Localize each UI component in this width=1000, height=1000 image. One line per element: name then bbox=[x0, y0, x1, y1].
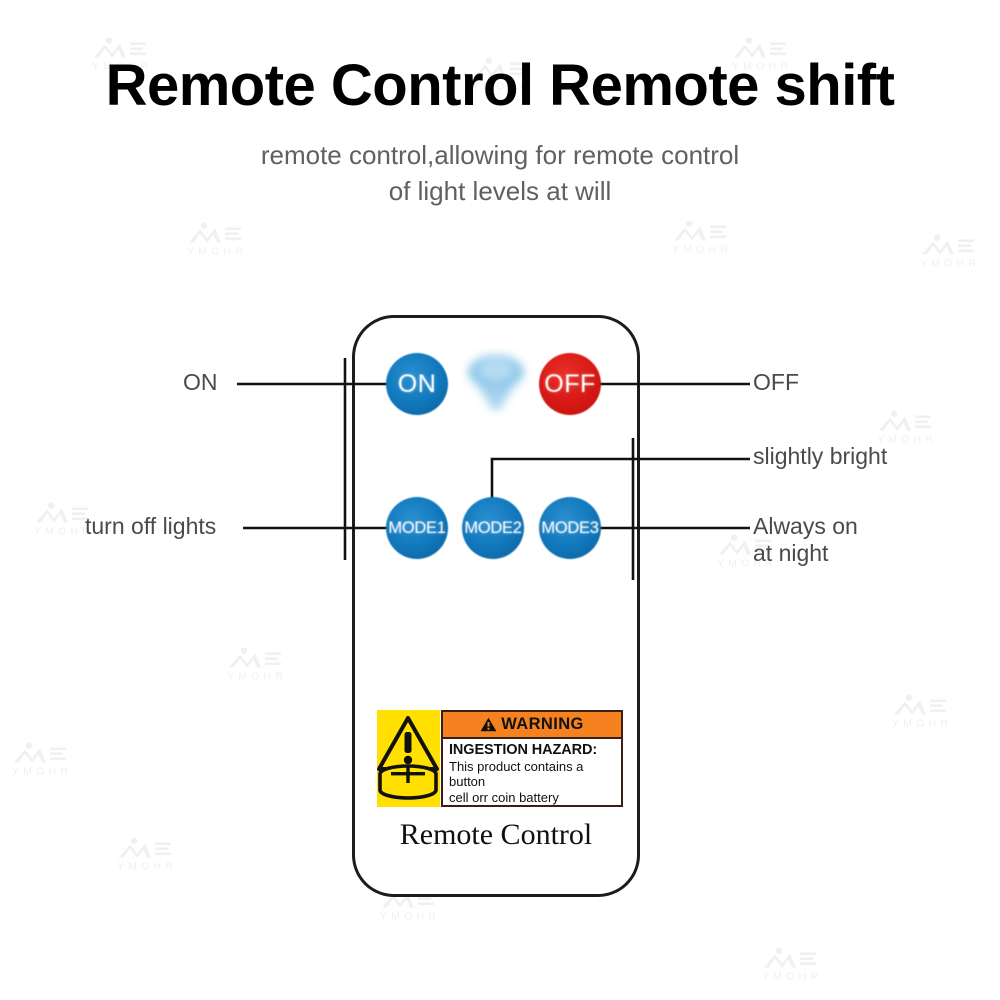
callout-label-turnoff: turn off lights bbox=[85, 513, 216, 540]
button-mode1[interactable]: MODE1 bbox=[386, 497, 448, 559]
button-on-label: ON bbox=[398, 370, 437, 399]
watermark-tile: YMOHR bbox=[864, 695, 976, 730]
ymohr-logo-icon bbox=[117, 838, 173, 860]
ymohr-logo-icon bbox=[34, 503, 90, 525]
watermark-tile: YMOHR bbox=[734, 948, 846, 983]
watermark-label: YMOHR bbox=[352, 911, 464, 923]
button-mode3-label: MODE3 bbox=[541, 519, 598, 538]
page-subtitle: remote control,allowing for remote contr… bbox=[0, 138, 1000, 210]
ymohr-logo-icon bbox=[12, 743, 68, 765]
remote-caption: Remote Control bbox=[352, 818, 640, 852]
watermark-label: YMOHR bbox=[0, 766, 96, 778]
ymohr-logo-icon bbox=[877, 411, 933, 433]
watermark-tile: YMOHR bbox=[0, 743, 96, 778]
warning-text-container: WARNING INGESTION HAZARD: This product c… bbox=[441, 710, 623, 807]
callout-label-bright: slightly bright bbox=[753, 443, 887, 470]
watermark-tile: YMOHR bbox=[159, 223, 271, 258]
watermark-label: YMOHR bbox=[734, 971, 846, 983]
warning-label: WARNING INGESTION HAZARD: This product c… bbox=[377, 710, 623, 807]
ymohr-logo-icon bbox=[920, 235, 976, 257]
button-off-label: OFF bbox=[544, 370, 596, 399]
warning-banner: WARNING bbox=[443, 712, 621, 739]
watermark-tile: YMOHR bbox=[89, 838, 201, 873]
button-mode2[interactable]: MODE2 bbox=[462, 497, 524, 559]
led-glow-icon bbox=[466, 352, 526, 414]
hazard-description: This product contains a button cell orr … bbox=[449, 759, 621, 805]
watermark-label: YMOHR bbox=[89, 861, 201, 873]
watermark-label: YMOHR bbox=[892, 258, 1000, 270]
warning-banner-label: WARNING bbox=[501, 715, 584, 734]
warning-body: INGESTION HAZARD: This product contains … bbox=[443, 739, 621, 805]
watermark-label: YMOHR bbox=[864, 718, 976, 730]
warning-triangle-icon bbox=[480, 717, 497, 732]
battery-ingestion-hazard-icon bbox=[377, 710, 440, 807]
button-on[interactable]: ON bbox=[386, 353, 448, 415]
callout-label-night: Always on at night bbox=[753, 513, 858, 567]
button-mode3[interactable]: MODE3 bbox=[539, 497, 601, 559]
hazard-icon-container bbox=[377, 710, 440, 807]
button-mode1-label: MODE1 bbox=[388, 519, 445, 538]
watermark-label: YMOHR bbox=[644, 244, 756, 256]
ymohr-logo-icon bbox=[762, 948, 818, 970]
button-mode2-label: MODE2 bbox=[464, 519, 521, 538]
hazard-heading: INGESTION HAZARD: bbox=[449, 742, 621, 758]
infographic-page: YMOHR YMOHR YMOHR bbox=[0, 0, 1000, 1000]
watermark-tile: YMOHR bbox=[644, 221, 756, 256]
ymohr-logo-icon bbox=[227, 648, 283, 670]
callout-label-on: ON bbox=[183, 369, 218, 396]
page-title: Remote Control Remote shift bbox=[0, 52, 1000, 119]
button-off[interactable]: OFF bbox=[539, 353, 601, 415]
ymohr-logo-icon bbox=[187, 223, 243, 245]
ymohr-logo-icon bbox=[892, 695, 948, 717]
watermark-tile: YMOHR bbox=[849, 411, 961, 446]
watermark-tile: YMOHR bbox=[199, 648, 311, 683]
watermark-label: YMOHR bbox=[159, 246, 271, 258]
watermark-label: YMOHR bbox=[199, 671, 311, 683]
watermark-tile: YMOHR bbox=[892, 235, 1000, 270]
ymohr-logo-icon bbox=[672, 221, 728, 243]
callout-label-off: OFF bbox=[753, 369, 799, 396]
